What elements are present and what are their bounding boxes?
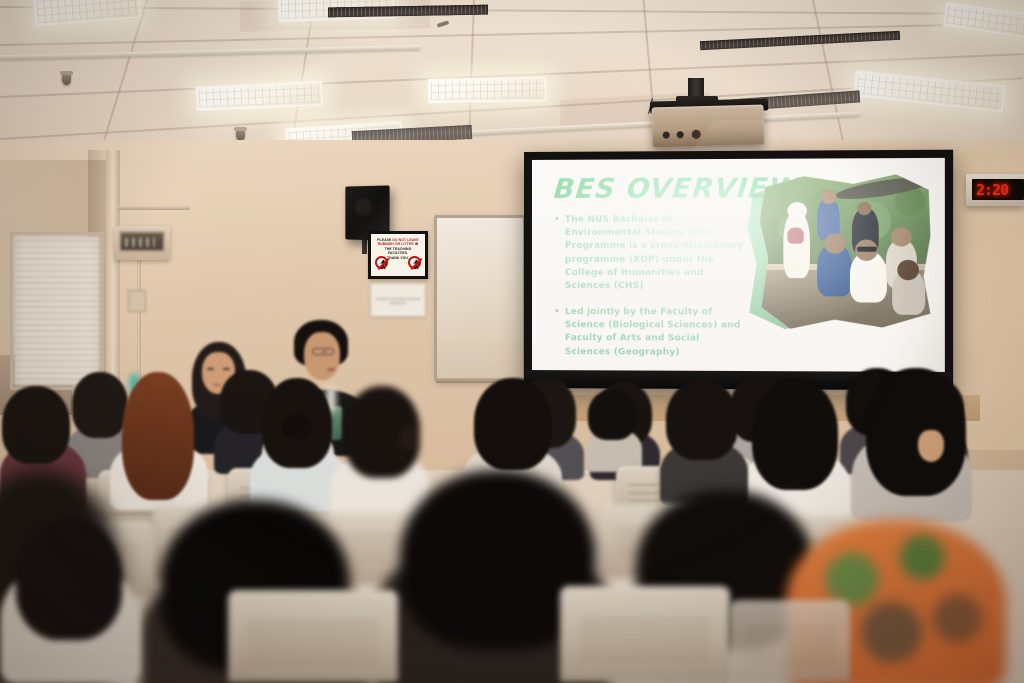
photo-person-shirt (787, 227, 803, 243)
clock-display: 2:20 (972, 179, 1024, 200)
lecture-chair[interactable] (228, 590, 398, 682)
poster-line1-red: DO NOT LEAVE (392, 238, 418, 242)
audience-hair-tie (398, 426, 420, 450)
photo-sunglasses (857, 247, 877, 252)
secondary-notice-text: PLEASE DO NOT LEAVE FOOD AND BEVERAGES (374, 298, 422, 305)
lecture-chair[interactable] (560, 586, 730, 682)
ceiling-light-panel (33, 0, 141, 27)
lecture-chair[interactable] (730, 600, 850, 682)
slide-bullet-text: Led jointly by the Faculty of Science (B… (565, 306, 748, 360)
group-photo (760, 174, 930, 329)
ceiling-rail (0, 45, 420, 60)
audience-ear (918, 430, 944, 462)
bullet-marker: • (554, 214, 560, 293)
sprinkler-head (62, 74, 71, 85)
audience-hair (866, 368, 966, 496)
photo-person-head (824, 233, 846, 253)
audience-hair (72, 372, 128, 438)
photo-person-head (891, 227, 912, 246)
no-littering-icon (375, 256, 388, 269)
photo-person-head (857, 202, 871, 215)
photo-person (784, 212, 811, 279)
whiteboard[interactable] (434, 215, 526, 381)
ceiling-light-panel (196, 81, 323, 111)
photo-person-hat (787, 202, 806, 219)
slide-bullet: • Led jointly by the Faculty of Science … (554, 306, 748, 360)
lecture-hall-photo: PLEASE DO NOT LEAVE RUBBISH OR LITTER IN… (0, 0, 1024, 683)
control-panel-display (119, 231, 165, 252)
slide-photo (750, 172, 935, 343)
audience-hair (666, 380, 738, 460)
slide-bullet: • The NUS Bachelor of Environmental Stud… (554, 213, 748, 293)
audience-hair (2, 386, 70, 464)
poster-line1-prefix: PLEASE (377, 238, 391, 242)
bullet-marker: • (554, 306, 560, 359)
wall-socket-plate[interactable] (128, 290, 146, 312)
poster-line2-suffix: IN (415, 242, 419, 246)
ceiling-light-panel (853, 70, 1005, 112)
no-litter-poster: PLEASE DO NOT LEAVE RUBBISH OR LITTER IN… (368, 231, 428, 279)
audience-hair-bun-knot (282, 414, 312, 440)
wall-conduit (137, 258, 141, 390)
speaker-bracket (362, 238, 367, 254)
presentation-slide: BES OVERVIEW • The NUS Bachelor of Envir… (532, 158, 945, 372)
window-blind[interactable] (14, 236, 100, 386)
presenter-right-mouth (327, 368, 335, 371)
projector (651, 105, 764, 148)
clock-time: 2:20 (976, 181, 1008, 199)
ceiling-air-vent (700, 31, 900, 50)
no-littering-icon (408, 256, 421, 269)
audience-hair (752, 378, 838, 490)
ceiling-fixture (437, 20, 450, 28)
presenter-right-glasses (312, 348, 334, 355)
slide-bullet-list: • The NUS Bachelor of Environmental Stud… (554, 213, 748, 372)
audience-hair-bob (588, 390, 636, 440)
photo-person-head (821, 190, 836, 204)
photo-person-head (898, 259, 920, 279)
poster-line2-red: RUBBISH OR LITTER (378, 242, 414, 246)
audience-hair-red (122, 372, 194, 500)
ceiling-air-vent (328, 5, 488, 18)
wall-conduit (118, 206, 190, 210)
projection-screen: BES OVERVIEW • The NUS Bachelor of Envir… (524, 150, 953, 391)
poster-icon-row (375, 255, 421, 270)
ceiling-grid-line (0, 6, 1024, 15)
presenter-right-face (304, 332, 340, 380)
slide-bullet-text: The NUS Bachelor of Environmental Studie… (565, 213, 748, 293)
secondary-notice: PLEASE DO NOT LEAVE FOOD AND BEVERAGES (370, 283, 426, 317)
ceiling-light-panel (943, 2, 1024, 38)
presenter-left-mouth (213, 384, 221, 386)
screen-surface: BES OVERVIEW • The NUS Bachelor of Envir… (532, 158, 945, 372)
audience-hair (474, 378, 552, 470)
audience-hair (16, 520, 122, 640)
ceiling-light-panel (428, 77, 546, 103)
